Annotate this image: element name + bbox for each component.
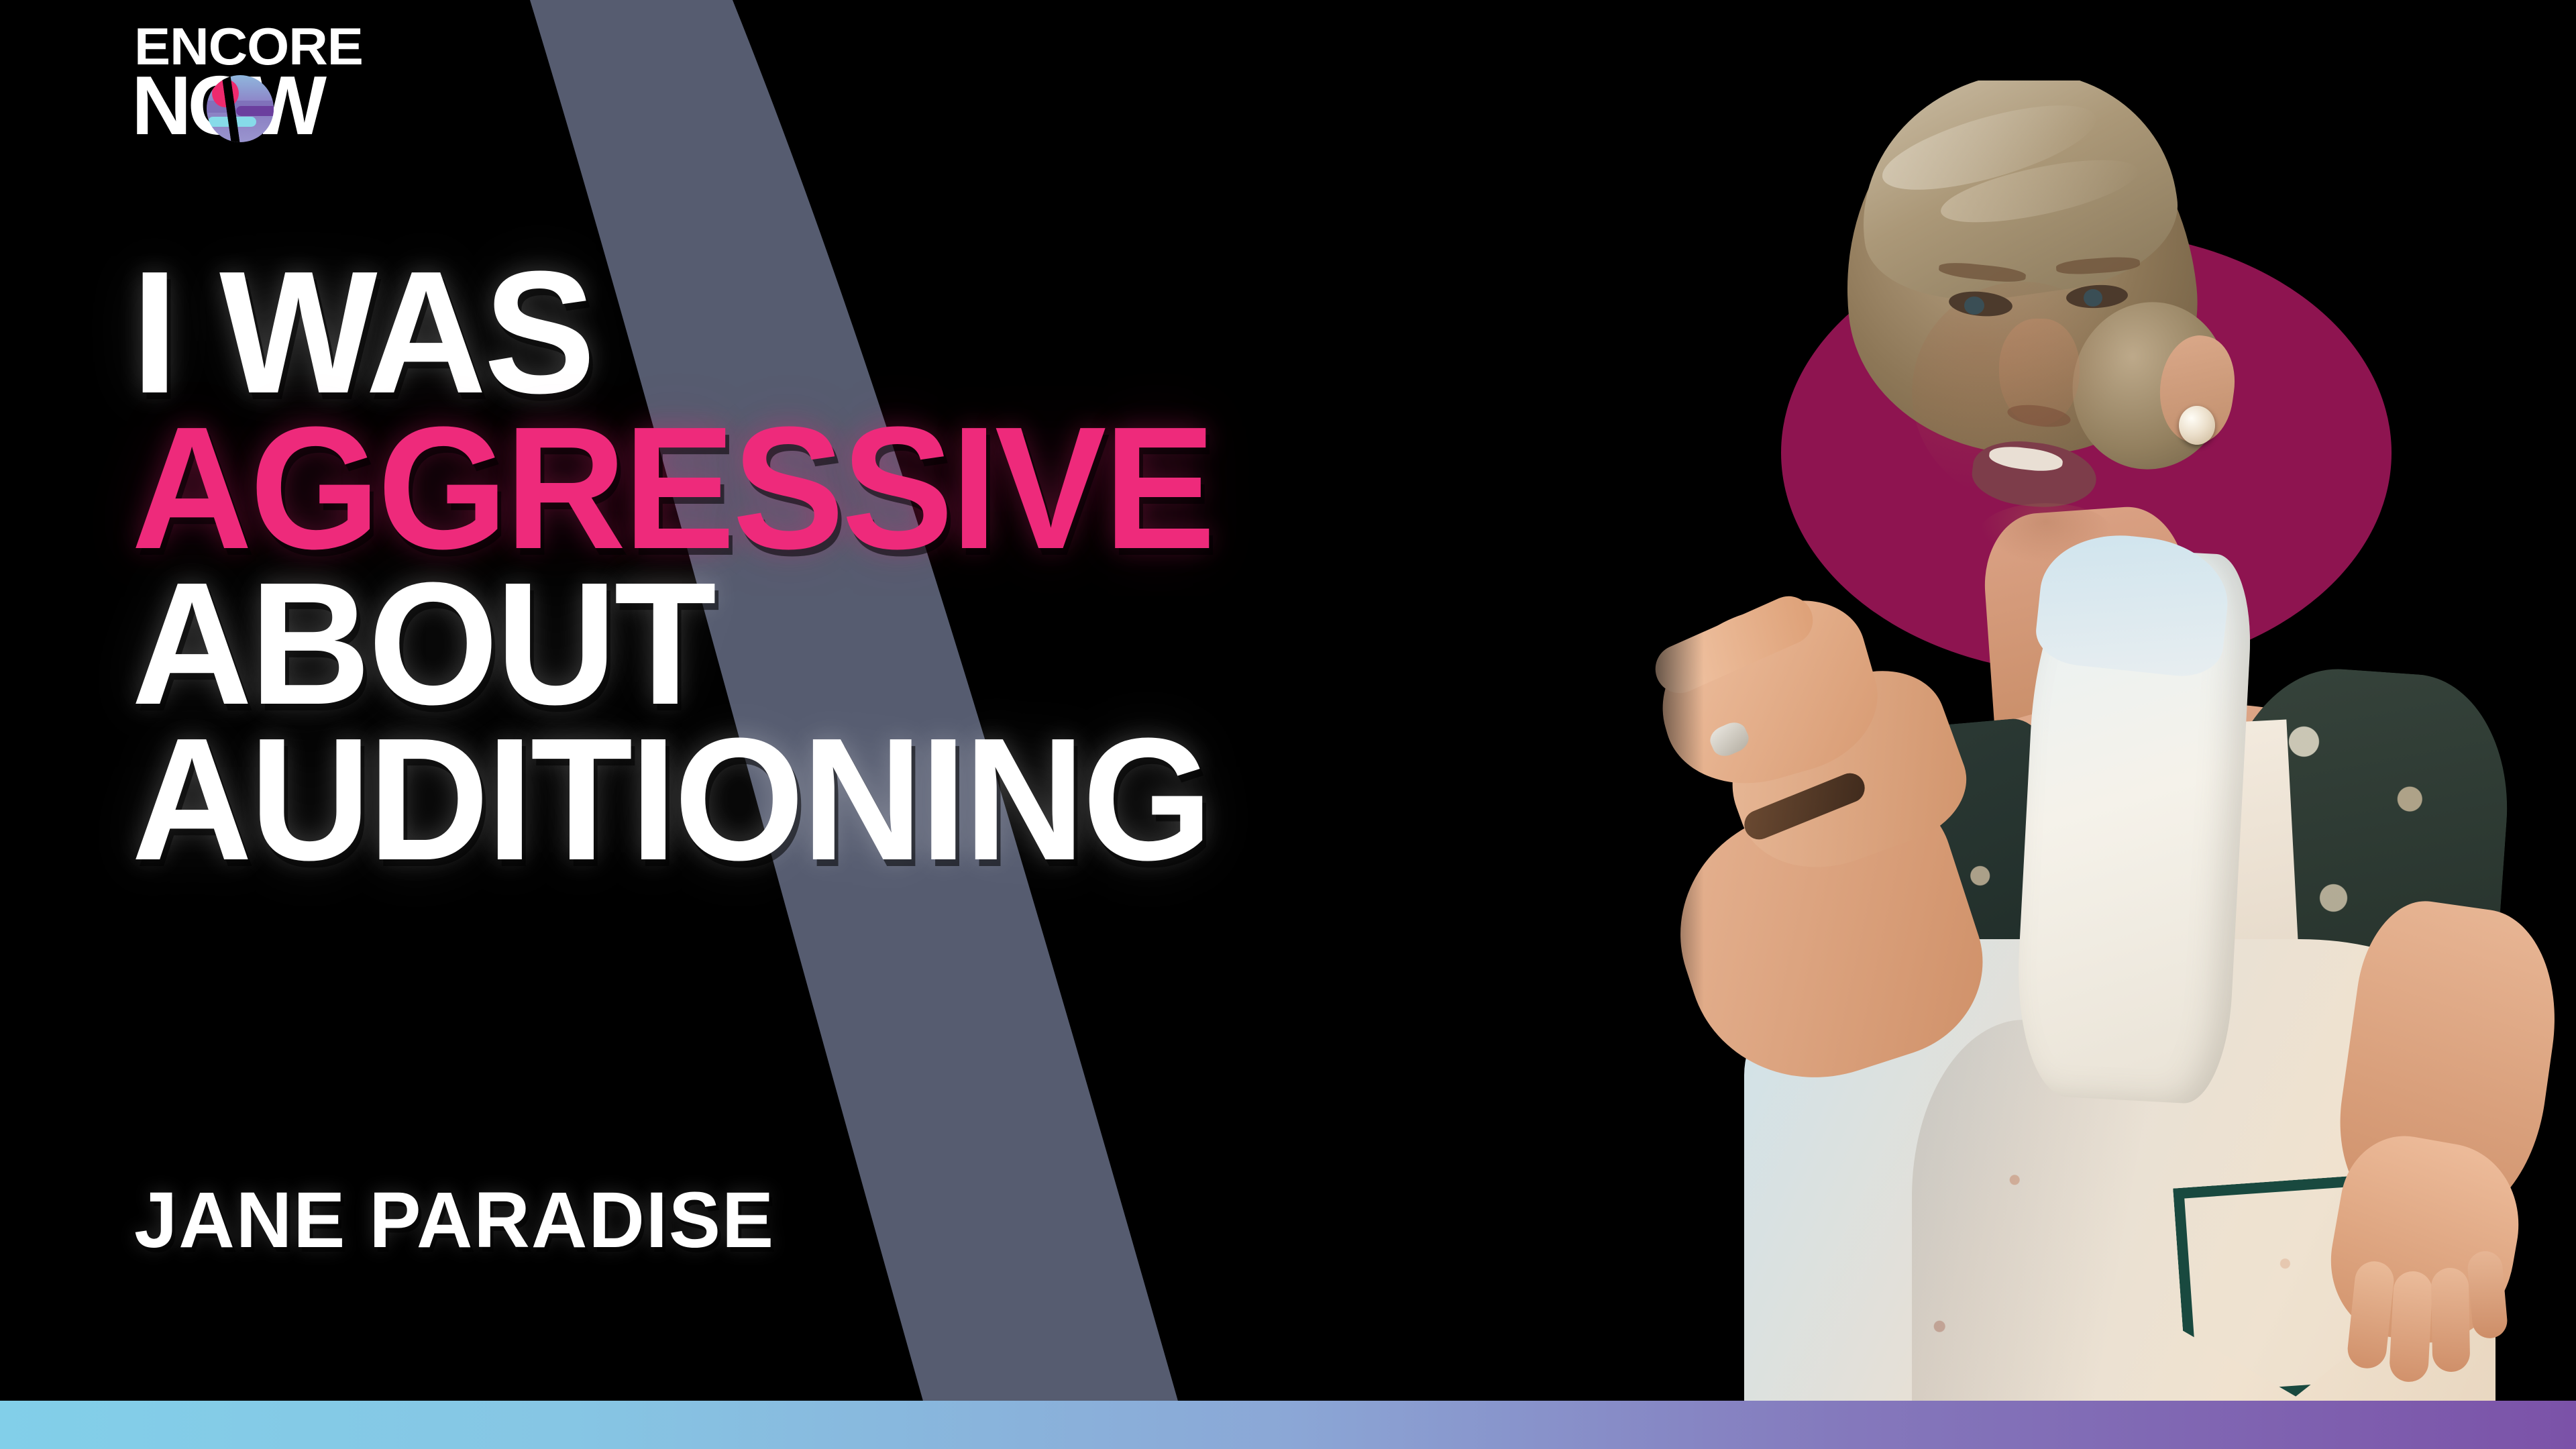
iris-left <box>1964 297 1984 315</box>
encore-now-logo[interactable]: ENCORE NOW <box>131 20 353 154</box>
quote-headline: I WAS AGGRESSIVE ABOUT AUDITIONING <box>131 255 1782 877</box>
logo-mark-swoosh <box>222 75 274 142</box>
pearl-earring <box>2179 406 2215 445</box>
quote-line-2: AGGRESSIVE <box>131 411 1716 566</box>
quote-line-4: AUDITIONING <box>131 722 1716 877</box>
quote-card: ENCORE NOW I WAS AGGRESSIVE ABOUT AUDITI… <box>0 0 2576 1449</box>
quote-line-3: ABOUT <box>131 566 1716 722</box>
iris-right <box>2084 289 2102 307</box>
attribution-name: JANE PARADISE <box>134 1181 775 1260</box>
finger <box>2431 1268 2471 1373</box>
sunset-circle-icon <box>207 75 274 142</box>
quote-line-1: I WAS <box>131 255 1716 411</box>
finger <box>2389 1271 2434 1383</box>
bottom-gradient-bar <box>0 1401 2576 1449</box>
